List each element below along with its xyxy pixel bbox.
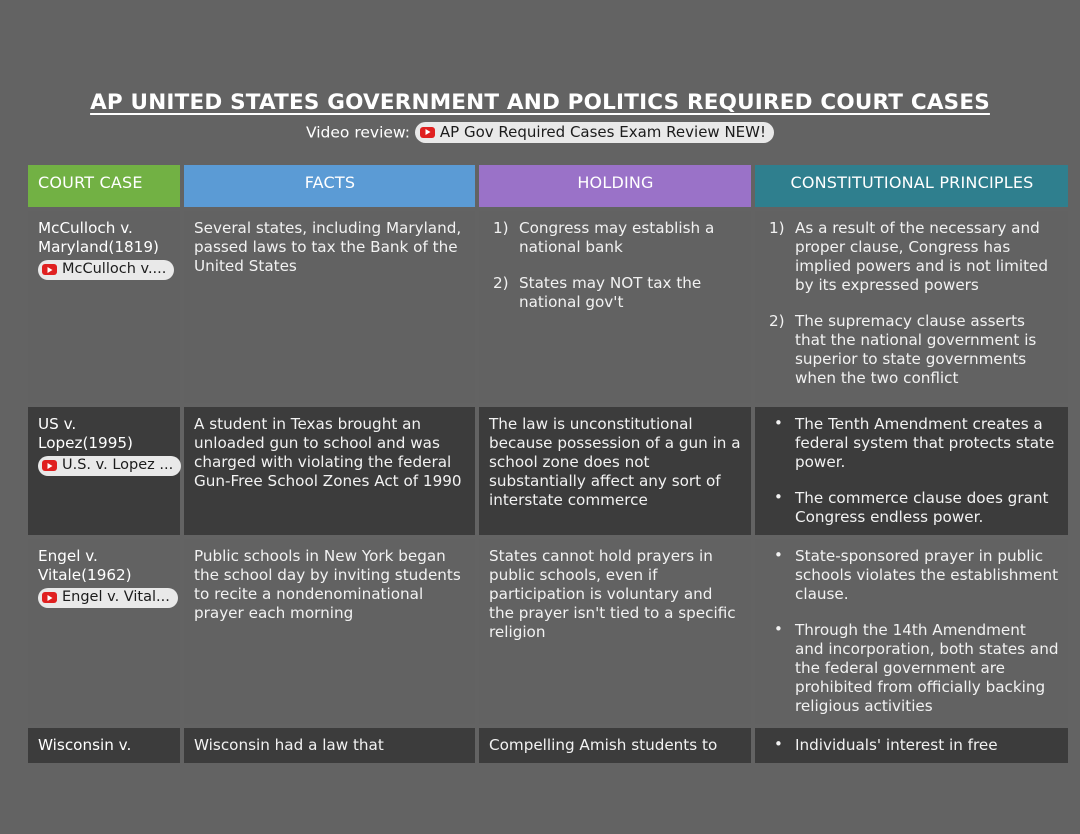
bullet-marker: • — [774, 735, 783, 754]
list-text: Individuals' interest in free — [795, 736, 998, 754]
list-text: As a result of the necessary and proper … — [795, 219, 1048, 294]
column-header-holding: HOLDING — [479, 165, 751, 207]
list-item: 2) States may NOT tax the national gov't — [489, 274, 742, 312]
facts-text: Wisconsin had a law that — [194, 736, 466, 755]
video-review-label: AP Gov Required Cases Exam Review NEW! — [440, 123, 766, 141]
cell-constitutional-principles: • Individuals' interest in free — [755, 728, 1068, 763]
list-text: State-sponsored prayer in public schools… — [795, 547, 1058, 603]
page-title: AP UNITED STATES GOVERNMENT AND POLITICS… — [90, 90, 990, 115]
table-row: US v. Lopez(1995) U.S. v. Lopez ... A st… — [28, 407, 1068, 535]
list-item: • Through the 14th Amendment and incorpo… — [765, 621, 1059, 716]
title-area: AP UNITED STATES GOVERNMENT AND POLITICS… — [0, 0, 1080, 115]
list-marker: 2) — [493, 274, 509, 293]
youtube-icon — [42, 460, 57, 471]
cell-court-case: McCulloch v. Maryland(1819) McCulloch v.… — [28, 211, 180, 403]
cell-facts: A student in Texas brought an unloaded g… — [184, 407, 475, 535]
bullet-marker: • — [774, 414, 783, 433]
facts-text: Several states, including Maryland, pass… — [194, 219, 466, 276]
youtube-icon — [420, 127, 435, 138]
cell-constitutional-principles: • State-sponsored prayer in public schoo… — [755, 539, 1068, 724]
list-text: The commerce clause does grant Congress … — [795, 489, 1048, 526]
cell-facts: Wisconsin had a law that — [184, 728, 475, 763]
case-name: Engel v. Vitale(1962) — [38, 547, 171, 585]
case-video-label: U.S. v. Lopez ... — [62, 456, 173, 475]
case-video-link[interactable]: U.S. v. Lopez ... — [38, 456, 181, 476]
bullet-marker: • — [774, 546, 783, 565]
column-header-court-case: COURT CASE — [28, 165, 180, 207]
facts-text: Public schools in New York began the sch… — [194, 547, 466, 623]
facts-text: A student in Texas brought an unloaded g… — [194, 415, 466, 491]
subtitle-line: Video review: AP Gov Required Cases Exam… — [0, 122, 1080, 143]
cell-court-case: US v. Lopez(1995) U.S. v. Lopez ... — [28, 407, 180, 535]
principles-list: • Individuals' interest in free — [765, 736, 1059, 755]
cell-constitutional-principles: 1) As a result of the necessary and prop… — [755, 211, 1068, 403]
principles-list: • The Tenth Amendment creates a federal … — [765, 415, 1059, 527]
list-item: • The Tenth Amendment creates a federal … — [765, 415, 1059, 472]
list-marker: 1) — [493, 219, 509, 238]
table-row: Wisconsin v. Wisconsin had a law that Co… — [28, 728, 1068, 763]
cell-court-case: Wisconsin v. — [28, 728, 180, 763]
bullet-marker: • — [774, 488, 783, 507]
holding-list: 1) Congress may establish a national ban… — [489, 219, 742, 312]
principles-list: 1) As a result of the necessary and prop… — [765, 219, 1059, 388]
case-name: McCulloch v. Maryland(1819) — [38, 219, 171, 257]
case-name: US v. Lopez(1995) — [38, 415, 171, 453]
youtube-icon — [42, 592, 57, 603]
cell-court-case: Engel v. Vitale(1962) Engel v. Vital... — [28, 539, 180, 724]
list-text: The supremacy clause asserts that the na… — [795, 312, 1036, 387]
court-cases-table: COURT CASE FACTS HOLDING CONSTITUTIONAL … — [24, 161, 1072, 767]
list-item: 2) The supremacy clause asserts that the… — [765, 312, 1059, 388]
cell-facts: Public schools in New York began the sch… — [184, 539, 475, 724]
column-header-constitutional-principles: CONSTITUTIONAL PRINCIPLES — [755, 165, 1068, 207]
video-review-link[interactable]: AP Gov Required Cases Exam Review NEW! — [415, 122, 774, 143]
youtube-icon — [42, 264, 57, 275]
cell-holding: Compelling Amish students to — [479, 728, 751, 763]
column-header-facts: FACTS — [184, 165, 475, 207]
cell-holding: States cannot hold prayers in public sch… — [479, 539, 751, 724]
list-marker: 1) — [769, 219, 785, 238]
list-item: • Individuals' interest in free — [765, 736, 1059, 755]
page-root: AP UNITED STATES GOVERNMENT AND POLITICS… — [0, 0, 1080, 834]
cell-facts: Several states, including Maryland, pass… — [184, 211, 475, 403]
subtitle-label: Video review: — [306, 124, 410, 142]
cell-constitutional-principles: • The Tenth Amendment creates a federal … — [755, 407, 1068, 535]
holding-text: The law is unconstitutional because poss… — [489, 415, 742, 510]
case-video-label: McCulloch v.... — [62, 260, 166, 279]
list-item: • State-sponsored prayer in public schoo… — [765, 547, 1059, 604]
principles-list: • State-sponsored prayer in public schoo… — [765, 547, 1059, 716]
list-item: 1) Congress may establish a national ban… — [489, 219, 742, 257]
bullet-marker: • — [774, 620, 783, 639]
list-marker: 2) — [769, 312, 785, 331]
case-video-link[interactable]: McCulloch v.... — [38, 260, 174, 280]
cell-holding: The law is unconstitutional because poss… — [479, 407, 751, 535]
table-header-row: COURT CASE FACTS HOLDING CONSTITUTIONAL … — [28, 165, 1068, 207]
case-video-label: Engel v. Vital... — [62, 588, 170, 607]
court-cases-table-wrapper: COURT CASE FACTS HOLDING CONSTITUTIONAL … — [24, 161, 1056, 767]
table-row: Engel v. Vitale(1962) Engel v. Vital... … — [28, 539, 1068, 724]
holding-text: States cannot hold prayers in public sch… — [489, 547, 742, 642]
holding-text: Compelling Amish students to — [489, 736, 742, 755]
table-row: McCulloch v. Maryland(1819) McCulloch v.… — [28, 211, 1068, 403]
list-text: Congress may establish a national bank — [519, 219, 714, 256]
case-video-link[interactable]: Engel v. Vital... — [38, 588, 178, 608]
table-body: McCulloch v. Maryland(1819) McCulloch v.… — [28, 211, 1068, 763]
list-text: Through the 14th Amendment and incorpora… — [795, 621, 1059, 715]
list-item: 1) As a result of the necessary and prop… — [765, 219, 1059, 295]
list-text: The Tenth Amendment creates a federal sy… — [795, 415, 1054, 471]
case-name: Wisconsin v. — [38, 736, 171, 755]
list-text: States may NOT tax the national gov't — [519, 274, 701, 311]
list-item: • The commerce clause does grant Congres… — [765, 489, 1059, 527]
cell-holding: 1) Congress may establish a national ban… — [479, 211, 751, 403]
